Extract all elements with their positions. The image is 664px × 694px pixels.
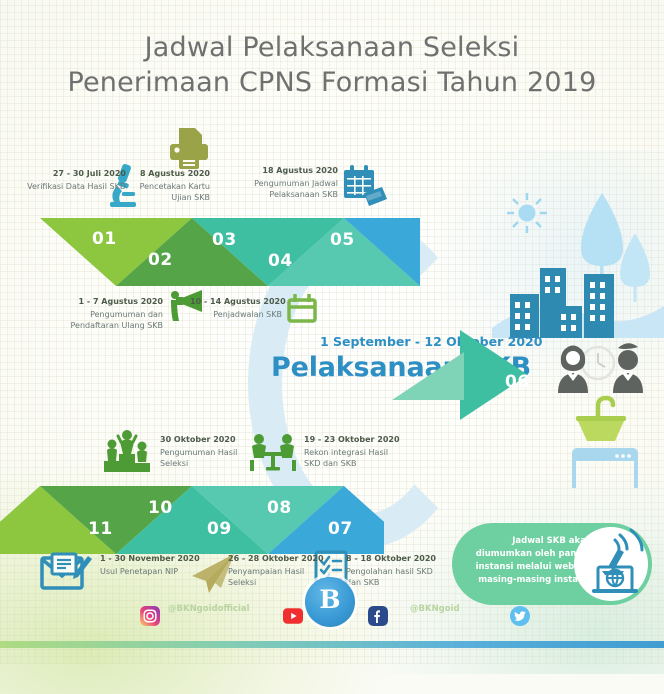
- footer-divider: [0, 641, 664, 648]
- chevron-number-04: 04: [268, 251, 293, 271]
- chevron-number-01: 01: [92, 229, 117, 249]
- step-date-09: 26 - 28 Oktober 2020: [228, 553, 316, 564]
- calendar-icon: [286, 292, 318, 324]
- step-date-08: 19 - 23 Oktober 2020: [304, 434, 404, 445]
- youtube-icon[interactable]: [283, 606, 303, 626]
- step-date-10: 30 Oktober 2020: [160, 434, 252, 445]
- chevron-number-10: 10: [148, 498, 173, 518]
- bkn-logo-letter: B: [305, 586, 355, 614]
- social-bar: @BKNgoidofficial B @BKNgoid: [0, 606, 664, 640]
- buildings-icon: [510, 268, 614, 338]
- step-label-02: 1 - 7 Agustus 2020 Pengumuman dan Pendaf…: [0, 296, 163, 331]
- title-line-2: Penerimaan CPNS Formasi Tahun 2019: [0, 65, 664, 100]
- chevron-number-09: 09: [207, 519, 232, 539]
- step-label-04: 10 - 14 Agustus 2020 Penjadwalan SKB: [190, 296, 282, 320]
- step-label-11: 1 - 30 November 2020 Usul Penetapan NIP: [100, 553, 210, 577]
- chevron-number-08: 08: [267, 498, 292, 518]
- step-date-07: 8 - 18 Oktober 2020: [346, 553, 446, 564]
- step-date-05: 18 Agustus 2020: [240, 165, 338, 176]
- browser-window-icon: [574, 450, 636, 488]
- sun-icon: [507, 193, 547, 233]
- bkn-logo: B: [305, 577, 355, 627]
- step-date-04: 10 - 14 Agustus 2020: [190, 296, 282, 307]
- sink-icon: [576, 398, 626, 441]
- chevron-row-bottom: [0, 486, 384, 554]
- step-desc-05: Pengumuman Jadwal Pelaksanaan SKB: [240, 178, 338, 200]
- step-desc-10: Pengumuman Hasil Seleksi: [160, 447, 252, 469]
- step-label-10: 30 Oktober 2020 Pengumuman Hasil Seleksi: [160, 434, 252, 469]
- twitter-icon[interactable]: [510, 606, 530, 626]
- step-desc-01: Verifikasi Data Hasil SKD: [0, 181, 126, 192]
- printer-icon: [166, 126, 212, 170]
- step-desc-11: Usul Penetapan NIP: [100, 566, 210, 577]
- clock-icon: [582, 347, 614, 379]
- step-desc-04: Penjadwalan SKB: [190, 309, 282, 320]
- tree-icon: [581, 193, 623, 286]
- chevron-number-02: 02: [148, 250, 173, 270]
- tree-icon: [620, 233, 650, 302]
- chevron-number-11: 11: [88, 519, 113, 539]
- page-title: Jadwal Pelaksanaan Seleksi Penerimaan CP…: [0, 30, 664, 100]
- step-desc-03: Pencetakan Kartu Ujian SKB: [118, 181, 210, 203]
- calendar-hand-icon: [342, 163, 388, 209]
- chevron-number-05: 05: [330, 230, 355, 250]
- info-callout: Jadwal SKB akan diumumkan oleh panitia i…: [452, 523, 652, 605]
- instagram-handle: @BKNgoidofficial: [168, 604, 250, 614]
- step-label-08: 19 - 23 Oktober 2020 Rekon integrasi Has…: [304, 434, 404, 469]
- mail-pen-icon: [40, 550, 92, 594]
- step-date-03: 8 Agustus 2020: [118, 168, 210, 179]
- step-desc-09: Penyampaian Hasil Seleksi: [228, 566, 316, 588]
- step-date-11: 1 - 30 November 2020: [100, 553, 210, 564]
- step-date-01: 27 - 30 Juli 2020: [0, 168, 126, 179]
- step-desc-02: Pengumuman dan Pendaftaran Ulang SKB: [0, 309, 163, 331]
- broadcast-laptop-icon: [572, 527, 646, 601]
- twitter-handle: @BKNgoid: [410, 604, 460, 614]
- step-desc-08: Rekon integrasi Hasil SKD dan SKB: [304, 447, 404, 469]
- step-label-09: 26 - 28 Oktober 2020 Penyampaian Hasil S…: [228, 553, 316, 588]
- step-label-05: 18 Agustus 2020 Pengumuman Jadwal Pelaks…: [240, 165, 338, 200]
- instagram-icon[interactable]: [140, 606, 160, 626]
- infographic-canvas: Jadwal Pelaksanaan Seleksi Penerimaan CP…: [0, 0, 664, 664]
- podium-icon: [104, 428, 150, 472]
- meeting-icon: [248, 432, 298, 472]
- title-line-1: Jadwal Pelaksanaan Seleksi: [145, 32, 520, 63]
- person-man-icon: [613, 343, 643, 393]
- chevron-number-07: 07: [328, 519, 353, 539]
- chevron-06-tail: [392, 352, 464, 400]
- step-desc-07: Pengolahan hasil SKD dan SKB: [346, 566, 446, 588]
- timeline-band-bottom: [0, 486, 384, 554]
- step-label-01: 27 - 30 Juli 2020 Verifikasi Data Hasil …: [0, 168, 126, 192]
- chevron-number-06: 06: [505, 372, 530, 392]
- step-label-03: 8 Agustus 2020 Pencetakan Kartu Ujian SK…: [118, 168, 210, 203]
- chevron-number-03: 03: [212, 230, 237, 250]
- step-label-07: 8 - 18 Oktober 2020 Pengolahan hasil SKD…: [346, 553, 446, 588]
- step-date-02: 1 - 7 Agustus 2020: [0, 296, 163, 307]
- facebook-icon[interactable]: [368, 606, 388, 626]
